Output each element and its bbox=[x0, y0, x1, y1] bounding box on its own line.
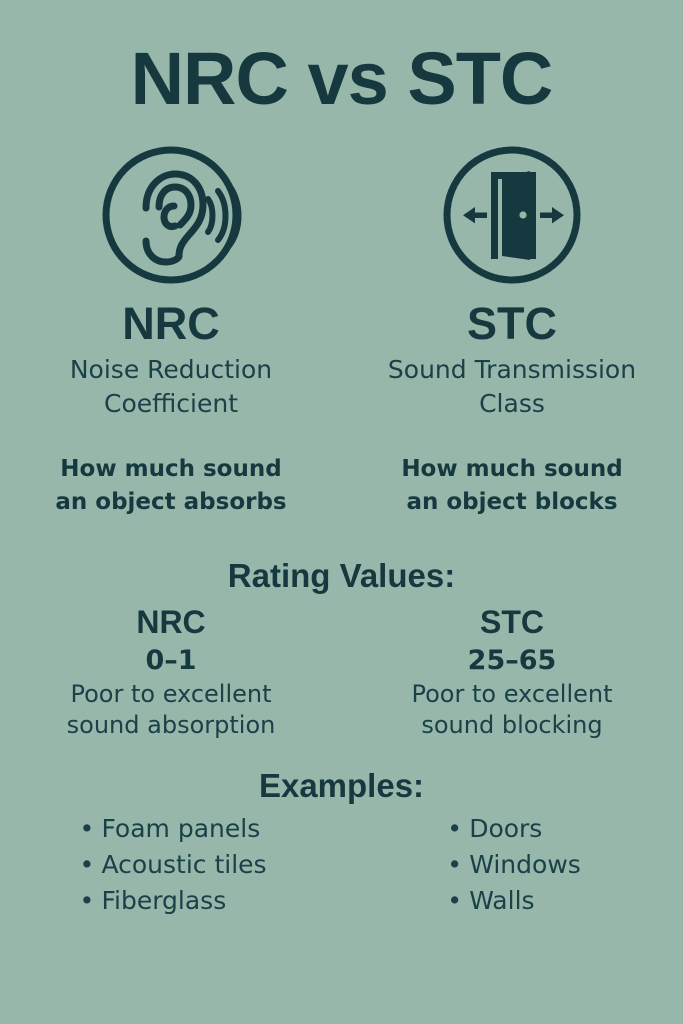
stc-description-column: How much sound an object blocks bbox=[342, 453, 683, 520]
stc-rating-note: Poor to excellent sound blocking bbox=[411, 679, 612, 741]
door-with-arrows-icon bbox=[441, 144, 583, 286]
stc-rating-column: STC 25–65 Poor to excellent sound blocki… bbox=[342, 603, 683, 741]
stc-description-line1: How much sound bbox=[401, 453, 622, 486]
nrc-full-name-line1: Noise Reduction bbox=[70, 353, 272, 387]
nrc-description-line2: an object absorbs bbox=[55, 486, 286, 519]
stc-rating-range: 25–65 bbox=[468, 644, 557, 678]
list-item: • Windows bbox=[443, 847, 581, 883]
nrc-examples-column: • Foam panels • Acoustic tiles • Fibergl… bbox=[1, 811, 342, 920]
stc-rating-abbr: STC bbox=[480, 603, 544, 641]
list-item-label: Acoustic tiles bbox=[101, 850, 266, 879]
list-item: • Acoustic tiles bbox=[75, 847, 266, 883]
nrc-examples-list: • Foam panels • Acoustic tiles • Fibergl… bbox=[75, 811, 266, 920]
nrc-rating-abbr: NRC bbox=[136, 603, 205, 641]
bullet-icon: • bbox=[447, 811, 462, 847]
stc-rating-note-line1: Poor to excellent bbox=[411, 679, 612, 710]
stc-description: How much sound an object blocks bbox=[401, 453, 622, 520]
nrc-description: How much sound an object absorbs bbox=[55, 453, 286, 520]
list-item-label: Foam panels bbox=[101, 814, 260, 843]
nrc-rating-note: Poor to excellent sound absorption bbox=[67, 679, 276, 741]
list-item: • Walls bbox=[443, 883, 581, 919]
bullet-icon: • bbox=[79, 811, 94, 847]
stc-full-name: Sound Transmission Class bbox=[388, 353, 636, 421]
list-item: • Doors bbox=[443, 811, 581, 847]
stc-abbr: STC bbox=[467, 300, 557, 347]
nrc-rating-note-line2: sound absorption bbox=[67, 710, 276, 741]
stc-icon-column bbox=[342, 144, 683, 286]
examples-row: • Foam panels • Acoustic tiles • Fibergl… bbox=[0, 811, 683, 920]
stc-description-line2: an object blocks bbox=[401, 486, 622, 519]
bullet-icon: • bbox=[79, 883, 94, 919]
bullet-icon: • bbox=[447, 847, 462, 883]
examples-heading: Examples: bbox=[259, 767, 424, 805]
nrc-title-column: NRC Noise Reduction Coefficient bbox=[1, 300, 342, 421]
nrc-abbr: NRC bbox=[122, 300, 220, 347]
nrc-description-column: How much sound an object absorbs bbox=[1, 453, 342, 520]
stc-full-name-line2: Class bbox=[388, 387, 636, 421]
list-item-label: Doors bbox=[469, 814, 542, 843]
infographic-root: NRC vs STC bbox=[0, 0, 683, 1024]
bullet-icon: • bbox=[79, 847, 94, 883]
rating-values-row: NRC 0–1 Poor to excellent sound absorpti… bbox=[0, 603, 683, 741]
abbr-row: NRC Noise Reduction Coefficient STC Soun… bbox=[0, 300, 683, 421]
nrc-rating-note-line1: Poor to excellent bbox=[67, 679, 276, 710]
nrc-description-line1: How much sound bbox=[55, 453, 286, 486]
ear-with-sound-waves-icon bbox=[100, 144, 242, 286]
nrc-icon-column bbox=[1, 144, 342, 286]
description-row: How much sound an object absorbs How muc… bbox=[0, 453, 683, 520]
bullet-icon: • bbox=[447, 883, 462, 919]
list-item-label: Windows bbox=[469, 850, 581, 879]
stc-title-column: STC Sound Transmission Class bbox=[342, 300, 683, 421]
page-title: NRC vs STC bbox=[131, 42, 553, 116]
list-item: • Fiberglass bbox=[75, 883, 266, 919]
nrc-full-name-line2: Coefficient bbox=[70, 387, 272, 421]
stc-examples-list: • Doors • Windows • Walls bbox=[443, 811, 581, 920]
stc-full-name-line1: Sound Transmission bbox=[388, 353, 636, 387]
nrc-rating-column: NRC 0–1 Poor to excellent sound absorpti… bbox=[1, 603, 342, 741]
nrc-rating-range: 0–1 bbox=[145, 644, 196, 678]
stc-examples-column: • Doors • Windows • Walls bbox=[342, 811, 683, 920]
stc-rating-note-line2: sound blocking bbox=[411, 710, 612, 741]
icon-row bbox=[0, 144, 683, 286]
list-item: • Foam panels bbox=[75, 811, 266, 847]
list-item-label: Walls bbox=[469, 886, 534, 915]
list-item-label: Fiberglass bbox=[101, 886, 226, 915]
rating-values-heading: Rating Values: bbox=[228, 557, 455, 595]
nrc-full-name: Noise Reduction Coefficient bbox=[70, 353, 272, 421]
